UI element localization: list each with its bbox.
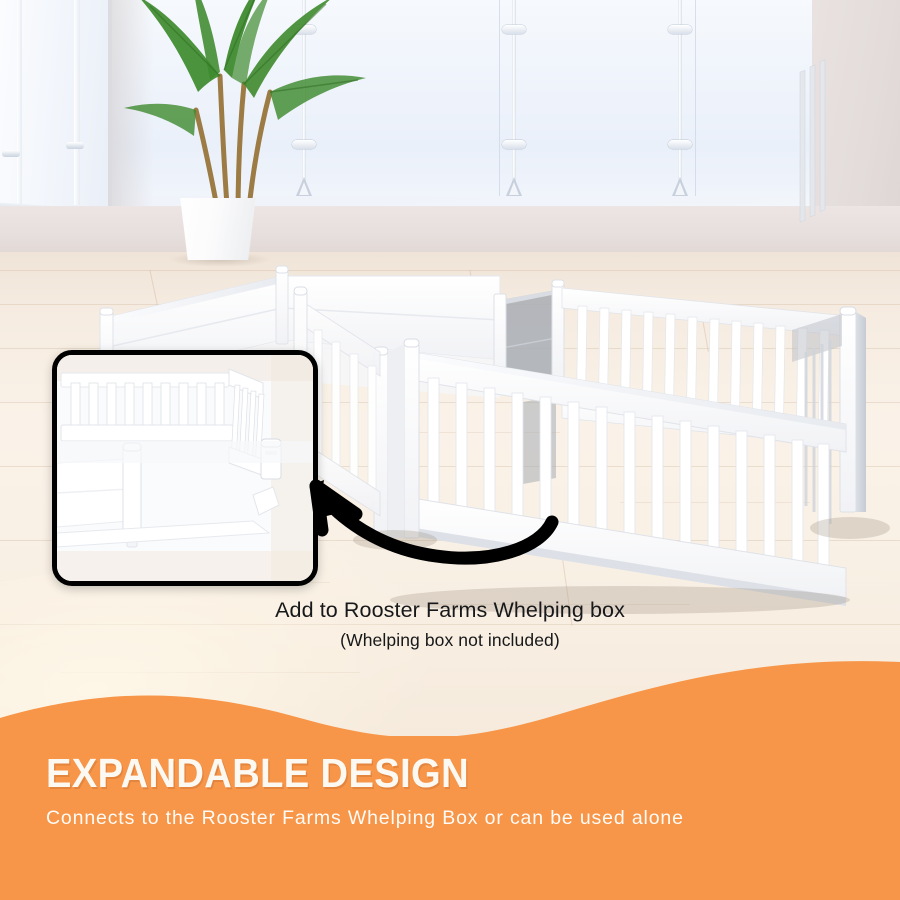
caption-primary: Add to Rooster Farms Whelping box [0,598,900,624]
banner-subline: Connects to the Rooster Farms Whelping B… [46,806,866,830]
corner-post [840,307,866,512]
product-feature-image: Add to Rooster Farms Whelping box (Whelp… [0,0,900,900]
banner-headline: EXPANDABLE DESIGN [46,752,809,795]
banner-text-block: EXPANDABLE DESIGN Connects to the Rooste… [46,752,866,830]
callout-arrow [240,430,570,570]
